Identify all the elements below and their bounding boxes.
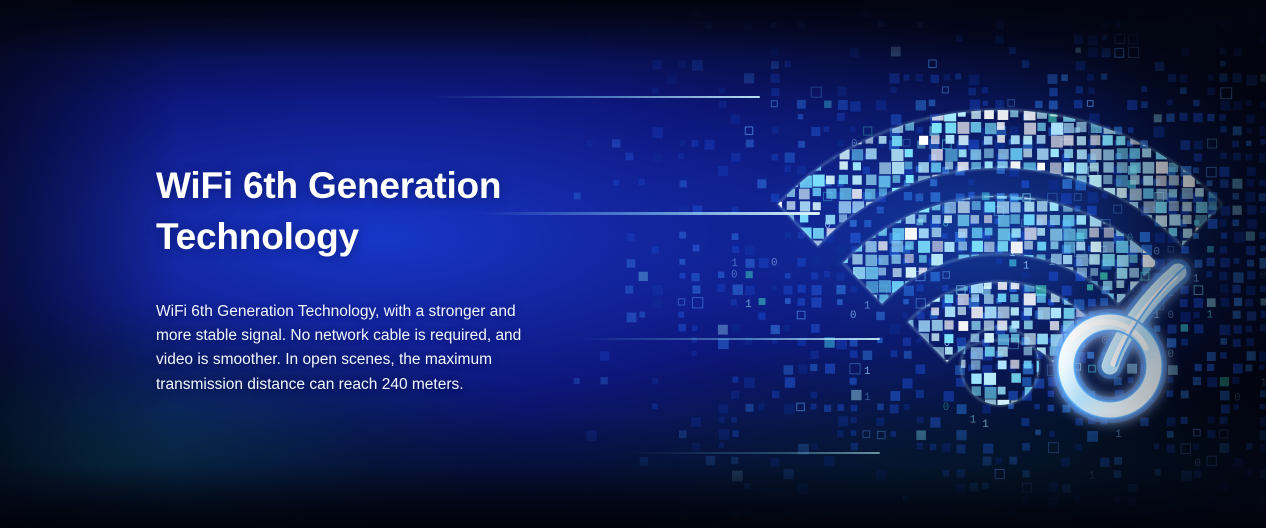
headline-line-1: WiFi 6th Generation bbox=[156, 165, 501, 206]
text-block: WiFi 6th Generation Technology WiFi 6th … bbox=[156, 160, 556, 397]
page-title: WiFi 6th Generation Technology bbox=[156, 160, 556, 262]
body-line-1: WiFi 6th Generation Technology, with a s… bbox=[156, 303, 516, 320]
body-line-3: video is smoother. In open scenes, the m… bbox=[156, 351, 492, 368]
body-copy: WiFi 6th Generation Technology, with a s… bbox=[156, 300, 548, 397]
body-line-2: more stable signal. No network cable is … bbox=[156, 327, 521, 344]
wifi6-promo-banner: 00001010110011011101011000101110011101 bbox=[0, 0, 1266, 528]
body-line-4: transmission distance can reach 240 mete… bbox=[156, 376, 464, 393]
headline-line-2: Technology bbox=[156, 216, 359, 257]
